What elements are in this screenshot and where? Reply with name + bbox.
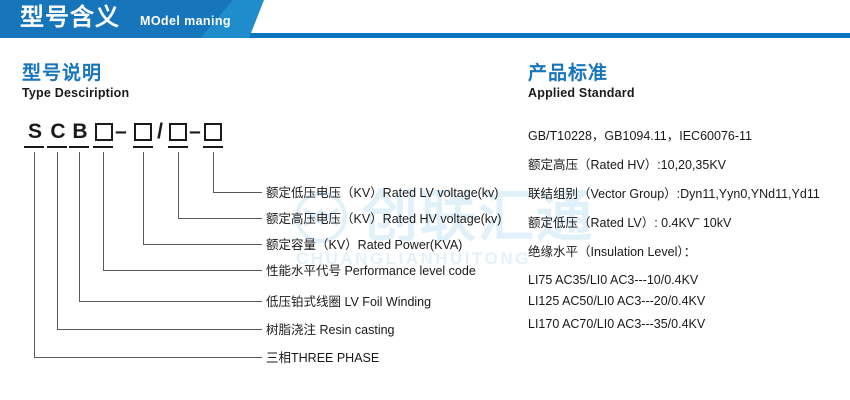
leader-line [34,152,262,358]
model-code-label: 低压铂式线圈 LV Foil Winding [266,294,431,310]
model-code-underline [24,146,44,148]
model-code-box [95,123,113,141]
model-code-underline [203,146,223,148]
model-code-label: 树脂浇注 Resin casting [266,322,395,338]
model-code-separator: / [153,120,167,144]
page-header-banner: 型号含义 MOdel maning [0,0,850,44]
model-code-box [169,123,187,141]
model-code-label: 额定低压电压（KV）Rated LV voltage(kv) [266,185,498,201]
model-code-letter: B [71,120,89,144]
model-code-box [204,123,222,141]
right-section-title-en: Applied Standard [528,85,635,101]
model-code-box [134,123,152,141]
model-code-label: 额定容量（KV）Rated Power(KVA) [266,237,462,253]
standard-line: 绝缘水平（Insulation Level）： [528,244,696,261]
model-code-underline [133,146,153,148]
standard-line: LI75 AC35/LI0 AC3---10/0.4KV [528,272,698,289]
model-code-letter: S [26,120,44,144]
right-section-title-cn: 产品标准 [528,62,608,86]
model-code-underline [47,146,67,148]
standard-line: LI125 AC50/LI0 AC3---20/0.4KV [528,293,705,310]
left-section-title-cn: 型号说明 [22,62,102,86]
model-code-underline [93,146,113,148]
model-code-label: 额定高压电压（KV）Rated HV voltage(kv) [266,211,501,227]
header-title-cn: 型号含义 [20,3,120,33]
model-code-separator: – [188,120,202,144]
model-code-letter: C [49,120,67,144]
standard-line: GB/T10228，GB1094.11，IEC60076-11 [528,128,752,145]
standard-line: 联结组别（Vector Group）:Dyn11,Yyn0,YNd11,Yd11 [528,186,820,203]
model-code-label: 三相THREE PHASE [266,350,379,366]
standard-line: LI170 AC70/LI0 AC3---35/0.4KV [528,316,705,333]
model-code-separator: – [114,120,128,144]
standard-line: 额定高压（Rated HV）:10,20,35KV [528,157,726,174]
standard-line: 额定低压（Rated LV）: 0.4KV˜ 10kV [528,215,731,232]
left-section-title-en: Type Desciription [22,85,129,101]
header-title-en: MOdel maning [140,13,231,29]
model-code-underline [168,146,188,148]
model-code-label: 性能水平代号 Performance level code [266,263,476,279]
model-code-underline [69,146,89,148]
